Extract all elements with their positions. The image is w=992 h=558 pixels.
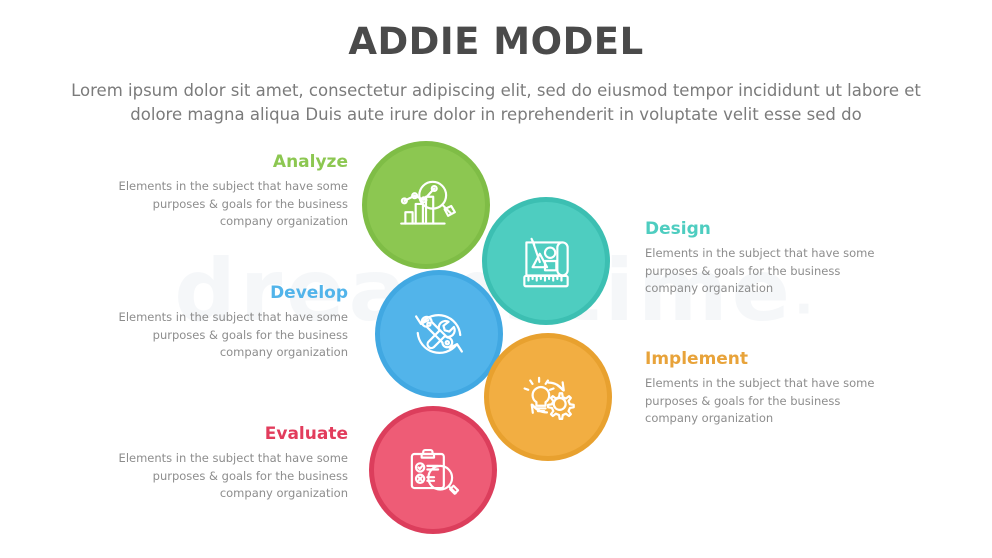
blueprint-ruler-icon bbox=[513, 228, 579, 294]
step-circle-evaluate[interactable] bbox=[369, 406, 497, 534]
step-label-analyze: Analyze bbox=[118, 152, 348, 172]
step-description-analyze: Elements in the subject that have some p… bbox=[118, 178, 348, 230]
step-text-evaluate: Evaluate Elements in the subject that ha… bbox=[118, 424, 348, 502]
step-text-analyze: Analyze Elements in the subject that hav… bbox=[118, 152, 348, 230]
step-circle-develop[interactable] bbox=[375, 270, 503, 398]
lightbulb-gear-cycle-icon bbox=[514, 363, 582, 431]
step-description-implement: Elements in the subject that have some p… bbox=[645, 375, 875, 427]
step-text-develop: Develop Elements in the subject that hav… bbox=[118, 283, 348, 361]
header: ADDIE MODEL Lorem ipsum dolor sit amet, … bbox=[0, 22, 992, 127]
step-label-evaluate: Evaluate bbox=[118, 424, 348, 444]
page-subtitle: Lorem ipsum dolor sit amet, consectetur … bbox=[56, 79, 936, 127]
step-description-develop: Elements in the subject that have some p… bbox=[118, 309, 348, 361]
step-circle-implement[interactable] bbox=[484, 333, 612, 461]
page-title: ADDIE MODEL bbox=[0, 22, 992, 63]
step-text-design: Design Elements in the subject that have… bbox=[645, 219, 875, 297]
step-label-implement: Implement bbox=[645, 349, 875, 369]
step-label-design: Design bbox=[645, 219, 875, 239]
step-circle-design[interactable] bbox=[482, 197, 610, 325]
step-description-design: Elements in the subject that have some p… bbox=[645, 245, 875, 297]
bar-chart-magnifier-icon bbox=[393, 172, 459, 238]
step-description-evaluate: Elements in the subject that have some p… bbox=[118, 450, 348, 502]
step-circle-analyze[interactable] bbox=[362, 141, 490, 269]
step-label-develop: Develop bbox=[118, 283, 348, 303]
step-text-implement: Implement Elements in the subject that h… bbox=[645, 349, 875, 427]
infographic-canvas: ADDIE MODEL Lorem ipsum dolor sit amet, … bbox=[0, 0, 992, 558]
clipboard-checklist-magnifier-icon bbox=[400, 437, 466, 503]
wrench-screwdriver-cycle-icon bbox=[405, 300, 473, 368]
